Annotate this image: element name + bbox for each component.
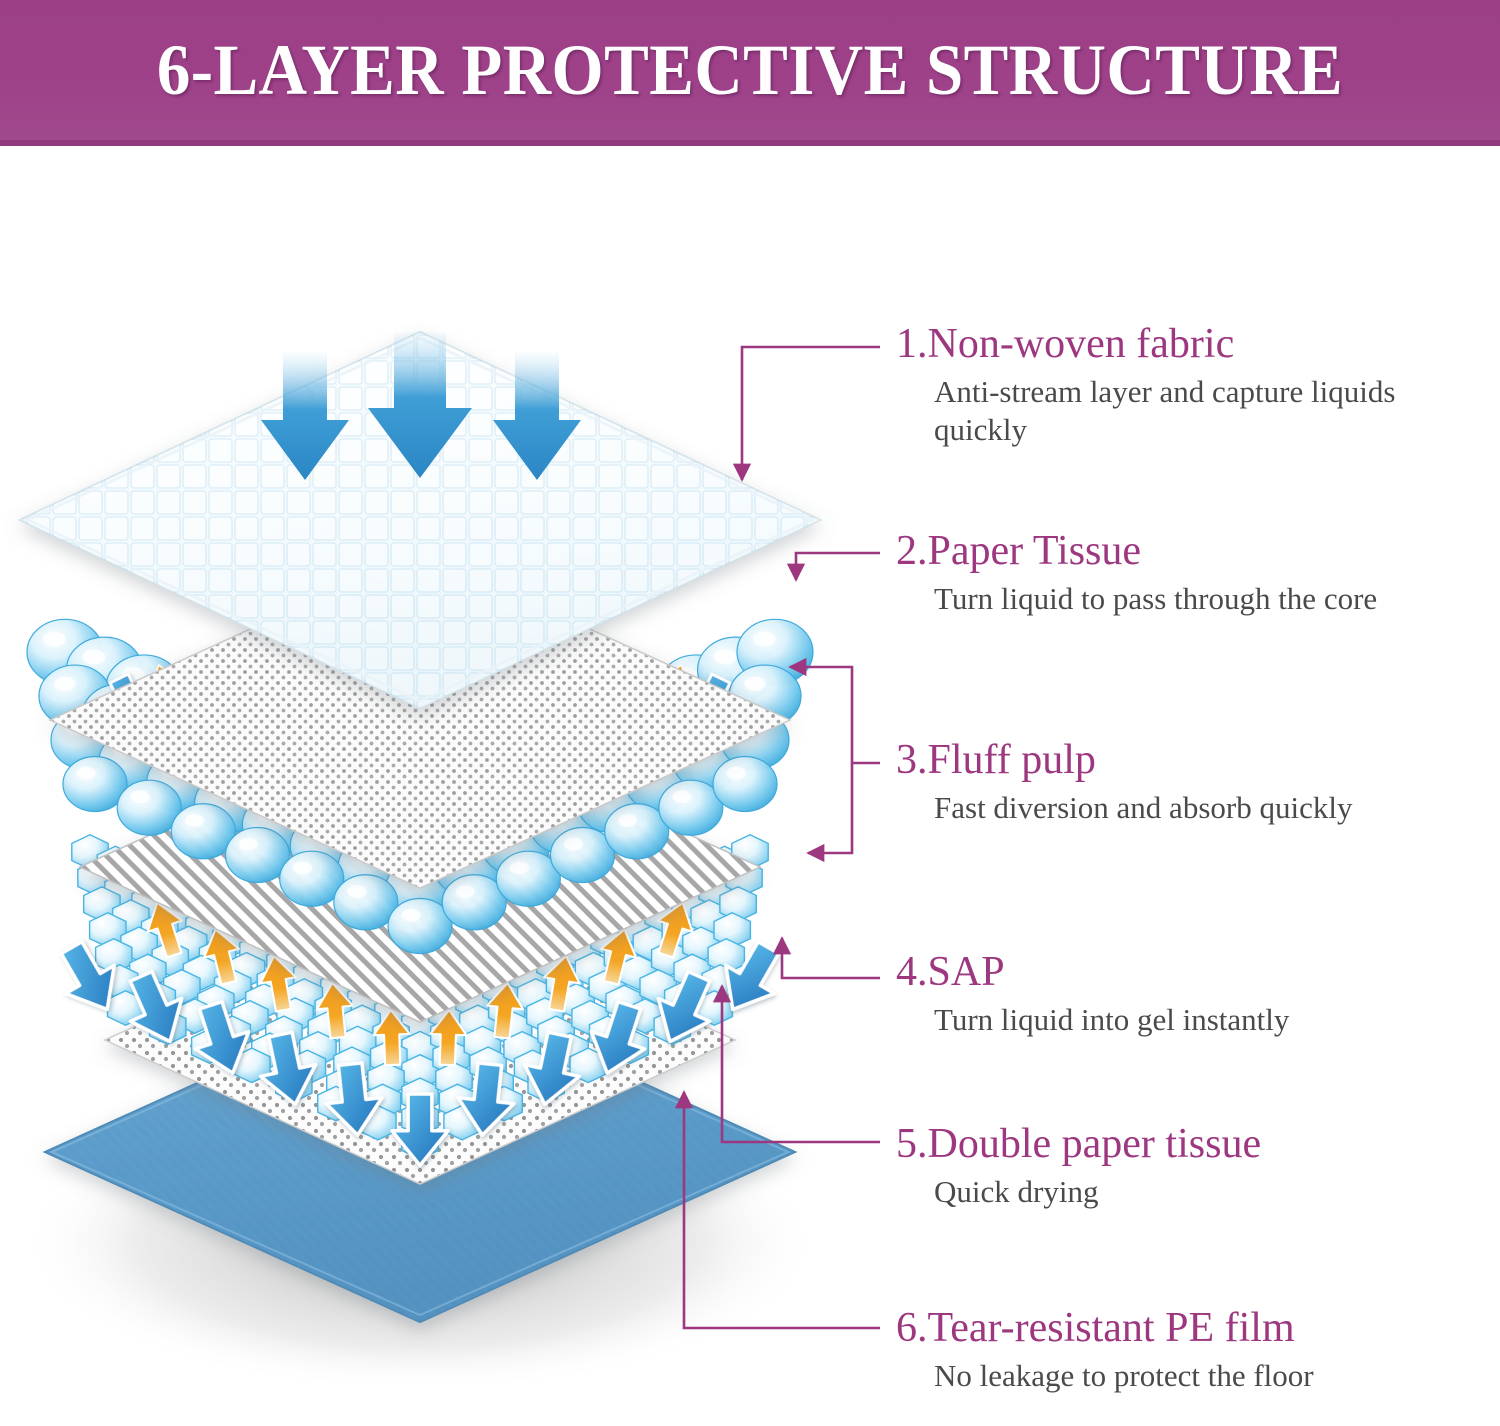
bubble-highlight [239, 838, 258, 851]
bubble-highlight [185, 814, 204, 827]
bubble-highlight [76, 767, 95, 780]
layer-stack-illustration [0, 152, 880, 1426]
bubble-highlight [347, 885, 366, 898]
callout-4-title: 4.SAP [896, 950, 1436, 995]
infographic-page: 6-LAYER PROTECTIVE STRUCTURE [0, 0, 1500, 1426]
bubble-highlight [714, 649, 737, 664]
bubble-highlight [43, 632, 66, 647]
callout-4-description: Turn liquid into gel instantly [934, 1001, 1434, 1040]
callout-3-description: Fast diversion and absorb quickly [934, 789, 1434, 828]
liquid-intake-arrows [261, 332, 581, 480]
callout-layer-2: 2.Paper Tissue Turn liquid to pass throu… [896, 529, 1436, 618]
callout-layer-5: 5.Double paper tissue Quick drying [896, 1122, 1436, 1211]
callout-layer-4: 4.SAP Turn liquid into gel instantly [896, 950, 1436, 1039]
bubble-highlight [726, 767, 745, 780]
bubble-highlight [401, 909, 420, 922]
bubble-highlight [293, 861, 312, 874]
bubble-highlight [618, 814, 637, 827]
callout-layer-1: 1.Non-woven fabric Anti-stream layer and… [896, 322, 1436, 450]
page-title: 6-LAYER PROTECTIVE STRUCTURE [53, 0, 1448, 140]
callout-layer-3: 3.Fluff pulp Fast diversion and absorb q… [896, 738, 1436, 827]
callout-6-title: 6.Tear-resistant PE film [896, 1306, 1436, 1351]
callout-2-title: 2.Paper Tissue [896, 529, 1436, 574]
callout-5-title: 5.Double paper tissue [896, 1122, 1436, 1167]
bubble-highlight [564, 838, 583, 851]
bubble-highlight [54, 677, 76, 691]
callout-3-title: 3.Fluff pulp [896, 738, 1436, 783]
bubble-highlight [131, 790, 150, 803]
bubble-highlight [672, 790, 691, 803]
layer-stack-diagram [0, 152, 880, 1426]
bubble-highlight [753, 632, 776, 647]
callout-2-description: Turn liquid to pass through the core [934, 580, 1434, 619]
callout-1-description: Anti-stream layer and capture liquids qu… [934, 373, 1434, 451]
bubble-highlight [82, 649, 105, 664]
bubble-highlight [744, 677, 766, 691]
callout-layer-6: 6.Tear-resistant PE film No leakage to p… [896, 1306, 1436, 1395]
bubble-highlight [456, 885, 475, 898]
bubble-highlight [510, 861, 529, 874]
callout-6-description: No leakage to protect the floor [934, 1357, 1434, 1396]
header-banner: 6-LAYER PROTECTIVE STRUCTURE [0, 0, 1500, 146]
fluff-pulp-liquid-bubble [713, 756, 777, 811]
callout-1-title: 1.Non-woven fabric [896, 322, 1436, 367]
callout-5-description: Quick drying [934, 1173, 1434, 1212]
